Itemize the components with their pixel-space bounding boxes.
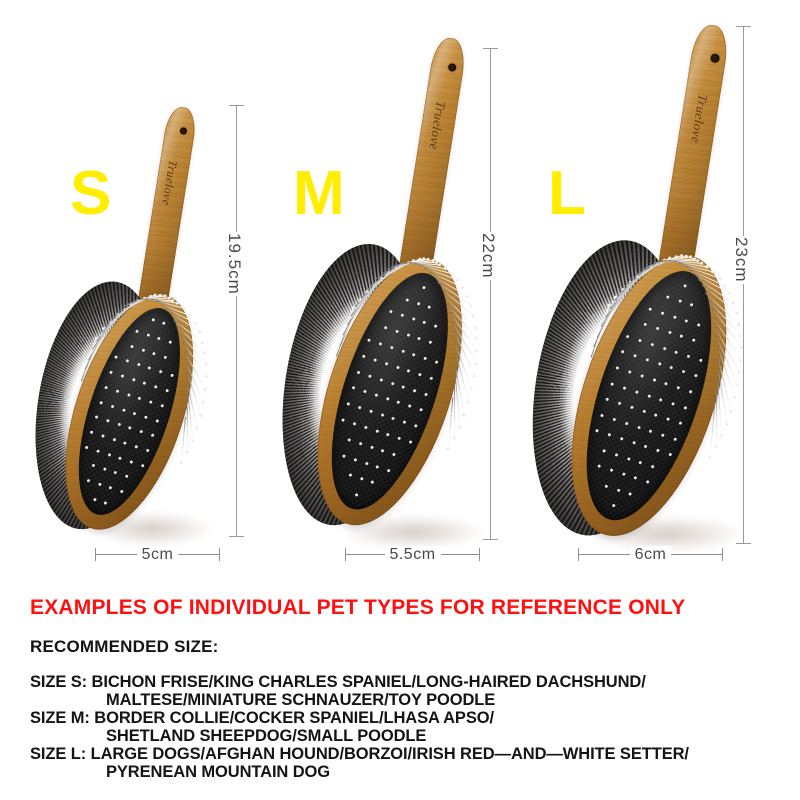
pin-ball-tip	[682, 370, 686, 374]
pin-ball-tip	[651, 465, 655, 469]
pin-ball-tip	[614, 453, 618, 457]
pin-ball-tip	[143, 382, 147, 386]
pin-ball-tip	[680, 335, 684, 339]
pin-ball-tip	[119, 456, 123, 460]
pin-ball-tip	[423, 357, 427, 361]
pin-ball-tip	[647, 394, 651, 398]
pin-ball-tip	[133, 411, 137, 415]
pin-ball-tip	[638, 339, 642, 343]
pin-ball-tip	[422, 321, 426, 325]
pin-ball-tip	[128, 426, 132, 430]
pin-ball-tip	[674, 437, 678, 441]
pin-ball-tip	[136, 363, 140, 367]
pin-ball-tip	[685, 319, 689, 323]
height-dimension-label-s: 19.5cm	[222, 232, 246, 296]
pin-ball-tip	[595, 429, 599, 433]
size-letter-l: L	[548, 163, 586, 225]
size-m-line1: SIZE M: BORDER COLLIE/COCKER SPANIEL/LHA…	[30, 709, 794, 727]
pin-ball-tip	[104, 501, 108, 505]
pin-ball-tip	[93, 497, 97, 501]
pin-ball-tip	[661, 433, 665, 437]
pin-ball-tip	[617, 401, 621, 405]
size-letter-m: M	[293, 163, 345, 225]
pin-ball-tip	[402, 420, 406, 424]
pin-ball-tip	[123, 441, 127, 445]
pin-ball-tip	[134, 445, 138, 449]
pin-ball-tip	[422, 286, 426, 290]
pin-ball-tip	[642, 409, 646, 413]
pin-ball-tip	[405, 298, 409, 302]
brush-group-s: Truelove S 19.5cm 5cm	[0, 0, 265, 585]
pin-ball-tip	[352, 386, 356, 390]
pin-ball-tip	[654, 413, 658, 417]
pin-ball-tip	[162, 322, 166, 326]
pin-ball-tip	[670, 366, 674, 370]
pin-ball-tip	[627, 457, 631, 461]
pin-ball-tip	[159, 370, 163, 374]
pin-ball-tip	[604, 484, 608, 488]
pin-ball-tip	[628, 370, 632, 374]
pin-ball-tip	[419, 408, 423, 412]
pin-ball-tip	[605, 398, 609, 402]
pin-ball-tip	[625, 421, 629, 425]
pin-ball-tip	[391, 381, 395, 385]
pin-ball-tip	[657, 362, 661, 366]
metal-pin	[453, 386, 454, 438]
pin-ball-tip	[428, 341, 432, 345]
pin-ball-tip	[85, 445, 89, 449]
height-dimension-label-m: 22cm	[476, 232, 500, 280]
pin-ball-tip	[391, 417, 395, 421]
pin-ball-tip	[357, 370, 361, 374]
pin-ball-tip	[429, 376, 433, 380]
pin-ball-tip	[114, 356, 118, 360]
pin-ball-tip	[353, 422, 357, 426]
pin-ball-tip	[120, 490, 124, 494]
product-photo-area: Truelove S 19.5cm 5cm	[0, 0, 800, 585]
height-dimension-label-l: 23cm	[729, 236, 753, 284]
size-letter-s: S	[70, 163, 111, 225]
pin-ball-tip	[164, 355, 168, 359]
pin-ball-tip	[655, 327, 659, 331]
size-chart-stage: Truelove S 19.5cm 5cm	[0, 0, 800, 800]
pin-ball-tip	[87, 479, 91, 483]
pin-ball-tip	[616, 488, 620, 492]
width-dimension-line-m: 5.5cm	[345, 554, 480, 555]
pin-ball-tip	[168, 340, 172, 344]
pin-ball-tip	[428, 305, 432, 309]
width-dimension-line-l: 6cm	[578, 554, 723, 555]
pin-ball-tip	[395, 330, 399, 334]
brush-group-m: Truelove M 22cm 5.5cm	[265, 0, 530, 585]
pin-ball-tip	[607, 433, 611, 437]
pin-ball-tip	[389, 310, 393, 314]
pin-ball-tip	[379, 378, 383, 382]
pin-ball-tip	[623, 386, 627, 390]
pin-ball-tip	[130, 344, 134, 348]
pin-ball-tip	[125, 359, 129, 363]
size-m-line2: SHETLAND SHEEPDOG/SMALL POODLE	[30, 727, 794, 745]
size-row-l: SIZE L: LARGE DOGS/AFGHAN HOUND/BORZOI/I…	[30, 745, 794, 781]
pin-ball-tip	[155, 419, 159, 423]
pin-ball-tip	[154, 385, 158, 389]
brush-m: Truelove	[298, 18, 527, 555]
pin-ball-tip	[121, 374, 125, 378]
pin-ball-tip	[165, 389, 169, 393]
pin-ball-tip	[652, 378, 656, 382]
metal-pin	[716, 391, 718, 447]
pin-ball-tip	[342, 454, 346, 458]
pin-ball-tip	[672, 402, 676, 406]
brush-l: Truelove	[552, 5, 794, 558]
brush-head-l	[535, 237, 776, 556]
pin-ball-tip	[353, 457, 357, 461]
pin-ball-tip	[379, 342, 383, 346]
pin-ball-tip	[609, 468, 613, 472]
pin-ball-tip	[139, 430, 143, 434]
pin-ball-tip	[117, 423, 121, 427]
pin-ball-tip	[622, 472, 626, 476]
pin-ball-tip	[106, 419, 110, 423]
metal-pin	[186, 406, 188, 452]
pin-ball-tip	[662, 347, 666, 351]
pin-ball-tip	[358, 406, 362, 410]
width-dimension-label-m: 5.5cm	[384, 546, 440, 564]
pin-ball-tip	[408, 440, 412, 444]
pin-ball-tip	[417, 337, 421, 341]
pin-ball-tip	[386, 433, 390, 437]
pin-ball-tip	[407, 369, 411, 373]
pin-ball-tip	[690, 303, 694, 307]
pin-ball-tip	[387, 468, 391, 472]
size-s-line2: MALTESE/MINIATURE SCHNAUZER/TOY POODLE	[30, 691, 794, 709]
pin-ball-tip	[359, 477, 363, 481]
size-l-line2: PYRENEAN MOUNTAIN DOG	[30, 763, 794, 781]
pin-ball-tip	[354, 493, 358, 497]
recommended-size-label: RECOMMENDED SIZE:	[30, 637, 219, 657]
pin-ball-tip	[678, 299, 682, 303]
pin-ball-tip	[135, 330, 139, 334]
pin-ball-tip	[127, 393, 131, 397]
pin-ball-tip	[342, 418, 346, 422]
pin-ball-tip	[660, 311, 664, 315]
pin-ball-tip	[646, 480, 650, 484]
pin-ball-tip	[371, 481, 375, 485]
brush-head-m	[284, 241, 510, 545]
pin-ball-tip	[112, 438, 116, 442]
pin-ball-tip	[364, 426, 368, 430]
pin-ball-tip	[434, 325, 438, 329]
pin-ball-tip	[348, 473, 352, 477]
height-dimension-line-m	[490, 48, 491, 540]
width-dimension-label-s: 5cm	[137, 546, 179, 564]
pin-ball-tip	[610, 382, 614, 386]
pin-ball-tip	[381, 449, 385, 453]
pin-ball-tip	[408, 404, 412, 408]
size-recommendation-list: SIZE S: BICHON FRISE/KING CHARLES SPANIE…	[30, 673, 794, 781]
pin-ball-tip	[679, 421, 683, 425]
brush-head-s	[35, 279, 236, 547]
pin-ball-tip	[390, 346, 394, 350]
pin-ball-tip	[402, 385, 406, 389]
pin-ball-tip	[375, 429, 379, 433]
pin-ball-tip	[683, 284, 687, 288]
pin-ball-tip	[132, 378, 136, 382]
pin-ball-tip	[626, 335, 630, 339]
size-row-m: SIZE M: BORDER COLLIE/COCKER SPANIEL/LHA…	[30, 709, 794, 745]
pin-ball-tip	[107, 453, 111, 457]
pin-ball-tip	[100, 401, 104, 405]
pin-ball-tip	[637, 425, 641, 429]
pin-ball-tip	[109, 486, 113, 490]
pin-ball-tip	[615, 366, 619, 370]
pin-ball-tip	[144, 415, 148, 419]
size-s-line1: SIZE S: BICHON FRISE/KING CHARLES SPANIE…	[30, 673, 794, 691]
pin-ball-tip	[384, 326, 388, 330]
pin-ball-tip	[365, 461, 369, 465]
height-dimension-line-l	[743, 26, 744, 544]
pin-ball-tip	[157, 337, 161, 341]
pin-ball-tip	[368, 374, 372, 378]
pin-ball-tip	[416, 301, 420, 305]
headline-reference-only: EXAMPLES OF INDIVIDUAL PET TYPES FOR REF…	[30, 596, 685, 620]
pin-ball-tip	[648, 307, 652, 311]
pin-ball-tip	[369, 410, 373, 414]
pin-ball-tip	[406, 333, 410, 337]
pin-ball-tip	[414, 424, 418, 428]
pin-ball-tip	[125, 475, 129, 479]
pin-ball-tip	[630, 405, 634, 409]
pin-ball-tip	[656, 449, 660, 453]
pin-ball-tip	[130, 460, 134, 464]
pin-ball-tip	[621, 350, 625, 354]
pin-ball-tip	[649, 429, 653, 433]
pin-ball-tip	[90, 430, 94, 434]
height-dimension-line-s	[236, 105, 237, 537]
pin-ball-tip	[141, 348, 145, 352]
pin-ball-tip	[640, 374, 644, 378]
pin-ball-tip	[668, 453, 672, 457]
pin-ball-tip	[629, 492, 633, 496]
pin-ball-tip	[612, 417, 616, 421]
pin-ball-tip	[170, 374, 174, 378]
pin-ball-tip	[644, 445, 648, 449]
pin-ball-tip	[362, 354, 366, 358]
pin-ball-tip	[684, 406, 688, 410]
pin-ball-tip	[659, 398, 663, 402]
pin-ball-tip	[150, 434, 154, 438]
pin-ball-tip	[692, 339, 696, 343]
pin-ball-tip	[602, 449, 606, 453]
pin-ball-tip	[401, 349, 405, 353]
pin-ball-tip	[665, 295, 669, 299]
pin-ball-tip	[385, 362, 389, 366]
pin-ball-tip	[96, 449, 100, 453]
pin-ball-tip	[600, 413, 604, 417]
pin-ball-tip	[643, 323, 647, 327]
pin-ball-tip	[413, 389, 417, 393]
pin-ball-tip	[645, 358, 649, 362]
pin-ball-tip	[633, 354, 637, 358]
pin-ball-tip	[392, 452, 396, 456]
pin-ball-tip	[666, 417, 670, 421]
pin-ball-tip	[122, 408, 126, 412]
pin-ball-tip	[367, 339, 371, 343]
pin-ball-tip	[347, 402, 351, 406]
info-text-block: EXAMPLES OF INDIVIDUAL PET TYPES FOR REF…	[0, 585, 800, 800]
pin-ball-tip	[146, 333, 150, 337]
pin-ball-tip	[370, 445, 374, 449]
pin-ball-tip	[149, 400, 153, 404]
pin-ball-tip	[148, 367, 152, 371]
pin-ball-tip	[699, 358, 703, 362]
pin-ball-tip	[620, 437, 624, 441]
pin-ball-tip	[396, 401, 400, 405]
pin-ball-tip	[412, 353, 416, 357]
brush-group-l: Truelove L 23cm 6cm	[530, 0, 800, 585]
pin-ball-tip	[103, 467, 107, 471]
pin-ball-tip	[376, 465, 380, 469]
pin-ball-tip	[434, 360, 438, 364]
width-dimension-line-s: 5cm	[95, 554, 220, 555]
pin-ball-tip	[160, 404, 164, 408]
pin-ball-tip	[418, 373, 422, 377]
pin-ball-tip	[687, 354, 691, 358]
pin-ball-tip	[385, 397, 389, 401]
pin-ball-tip	[116, 389, 120, 393]
pin-ball-tip	[138, 396, 142, 400]
pin-ball-tip	[611, 504, 615, 508]
pin-ball-tip	[152, 352, 156, 356]
size-row-s: SIZE S: BICHON FRISE/KING CHARLES SPANIE…	[30, 673, 794, 709]
pin-ball-tip	[374, 394, 378, 398]
pin-ball-tip	[673, 315, 677, 319]
pin-ball-tip	[689, 390, 693, 394]
pin-ball-tip	[634, 476, 638, 480]
pin-ball-tip	[597, 464, 601, 468]
pin-ball-tip	[98, 482, 102, 486]
pin-ball-tip	[411, 317, 415, 321]
pin-ball-tip	[111, 404, 115, 408]
width-dimension-label-l: 6cm	[630, 546, 672, 564]
pin-ball-tip	[359, 442, 363, 446]
pin-ball-tip	[635, 390, 639, 394]
pin-ball-tip	[347, 438, 351, 442]
pin-ball-tip	[373, 358, 377, 362]
pin-ball-tip	[105, 386, 109, 390]
pin-ball-tip	[109, 371, 113, 375]
pin-ball-tip	[396, 365, 400, 369]
pin-ball-tip	[91, 464, 95, 468]
pin-ball-tip	[141, 463, 145, 467]
pin-ball-tip	[677, 386, 681, 390]
pin-ball-tip	[697, 323, 701, 327]
pin-ball-tip	[668, 331, 672, 335]
pin-ball-tip	[650, 343, 654, 347]
pin-ball-tip	[400, 314, 404, 318]
pin-ball-tip	[114, 471, 118, 475]
pin-ball-tip	[694, 374, 698, 378]
pin-ball-tip	[151, 318, 155, 322]
size-l-line1: SIZE L: LARGE DOGS/AFGHAN HOUND/BORZOI/I…	[30, 745, 794, 763]
pin-ball-tip	[632, 441, 636, 445]
pin-ball-tip	[101, 434, 105, 438]
pin-ball-tip	[95, 415, 99, 419]
pin-ball-tip	[424, 392, 428, 396]
pin-ball-tip	[664, 382, 668, 386]
pin-ball-tip	[380, 413, 384, 417]
pin-ball-tip	[675, 351, 679, 355]
pin-ball-tip	[146, 448, 150, 452]
pin-ball-tip	[363, 390, 367, 394]
pin-ball-tip	[397, 436, 401, 440]
pin-ball-tip	[639, 461, 643, 465]
